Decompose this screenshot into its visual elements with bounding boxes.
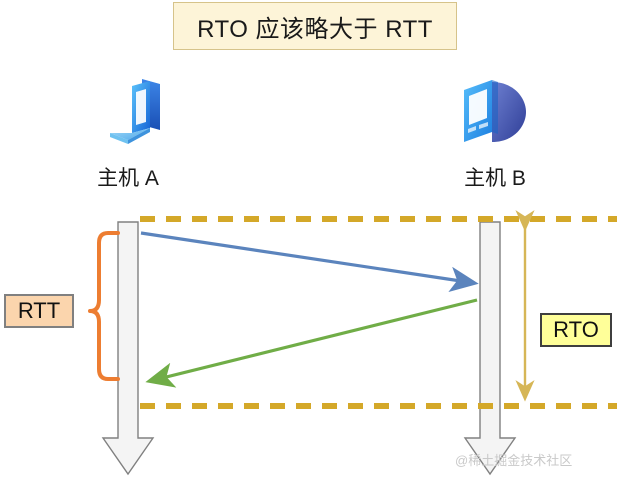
diagram-vector-layer xyxy=(0,0,617,482)
diagram-canvas: RTO 应该略大于 RTT xyxy=(0,0,617,482)
rtt-label-box: RTT xyxy=(4,294,74,328)
rto-label-box: RTO xyxy=(540,313,612,347)
laptop-icon xyxy=(104,76,188,152)
desktop-computer-icon xyxy=(452,76,536,152)
rtt-label: RTT xyxy=(18,298,60,324)
timeline-host-a xyxy=(103,222,153,474)
timeline-host-b xyxy=(465,222,515,474)
diagram-title-box: RTO 应该略大于 RTT xyxy=(173,2,457,50)
message-arrow-request xyxy=(141,233,474,283)
rto-label: RTO xyxy=(553,317,599,343)
host-b-label: 主机 B xyxy=(415,162,575,192)
rtt-bracket xyxy=(90,233,118,379)
message-arrow-reply xyxy=(150,300,477,381)
watermark: @稀土掘金技术社区 xyxy=(455,450,572,469)
page-title: RTO 应该略大于 RTT xyxy=(197,9,433,44)
host-a-label: 主机 A xyxy=(48,162,208,192)
